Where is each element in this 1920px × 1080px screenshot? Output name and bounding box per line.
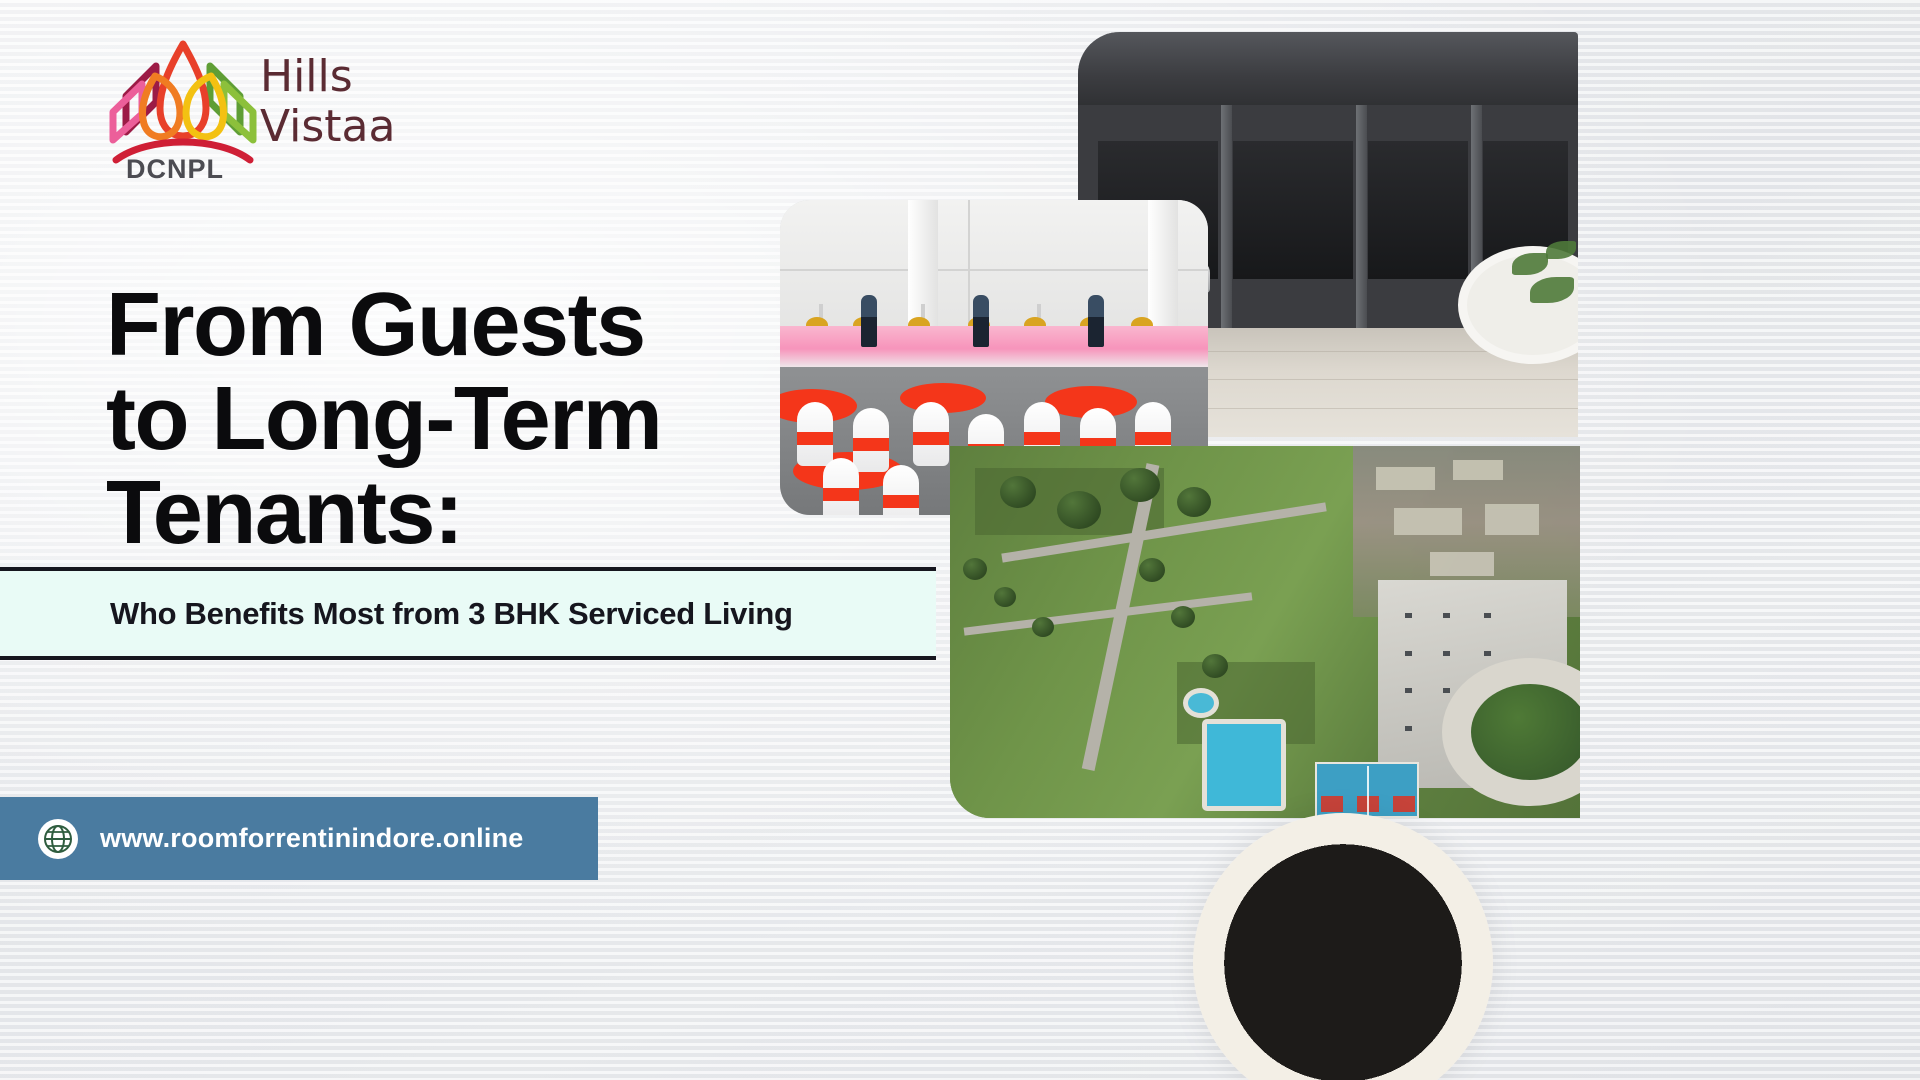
brand-name-line1: Hills (260, 52, 395, 102)
aerial-view-photo (950, 446, 1580, 818)
subtitle-text: Who Benefits Most from 3 BHK Serviced Li… (110, 596, 793, 632)
brand-wordmark: Hills Vistaa (260, 52, 395, 152)
brand-name-line2: Vistaa (260, 102, 395, 152)
headline-line-3: Tenants: (106, 466, 846, 560)
headline-line-2: to Long-Term (106, 372, 846, 466)
page-title: From Guests to Long-Term Tenants: (106, 278, 846, 560)
website-url-bar[interactable]: www.roomforrentinindore.online (0, 797, 598, 880)
lotus-petal-icon (108, 36, 258, 168)
subtitle-banner: Who Benefits Most from 3 BHK Serviced Li… (0, 567, 936, 660)
brand-logo: Hills Vistaa DCNPL (108, 36, 508, 176)
globe-icon (38, 819, 78, 859)
coffee-cup-photo (1193, 813, 1493, 1080)
headline-line-1: From Guests (106, 278, 846, 372)
marketing-banner: Hills Vistaa DCNPL From Guests to Long-T… (0, 0, 1920, 1080)
website-url-text: www.roomforrentinindore.online (100, 823, 524, 854)
brand-sub-name: DCNPL (126, 154, 224, 185)
